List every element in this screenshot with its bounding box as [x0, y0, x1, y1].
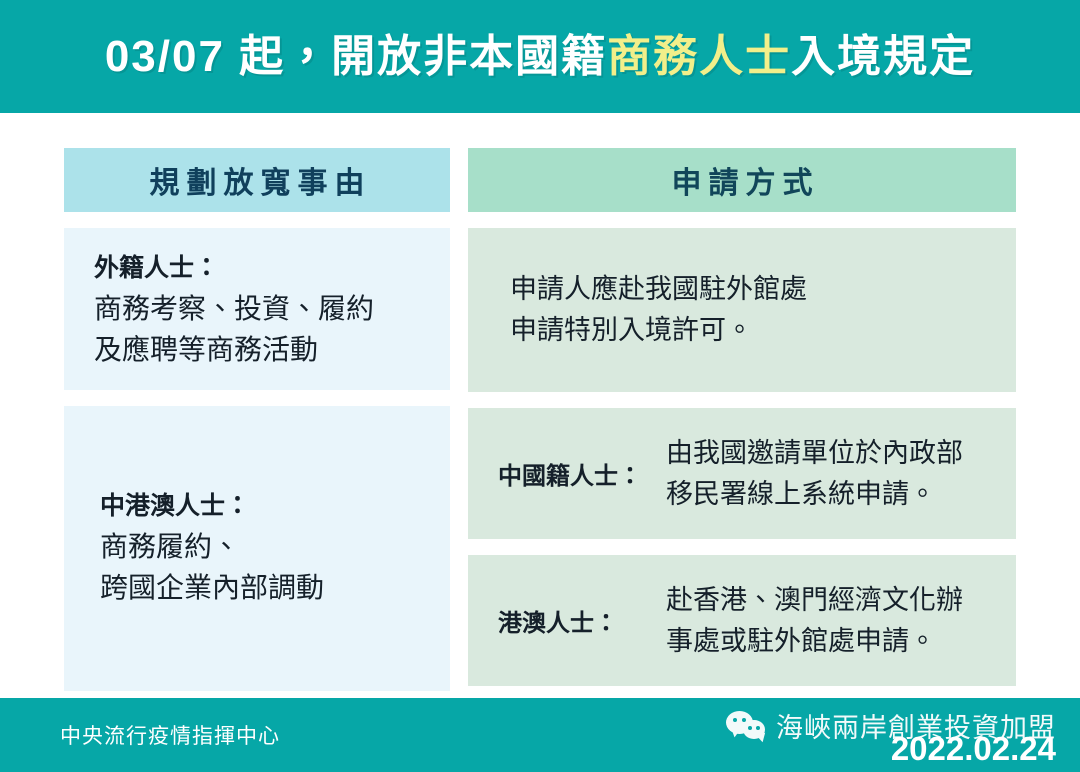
- card-foreign-nationals: 外籍人士： 商務考察、投資、履約 及應聘等商務活動: [64, 228, 450, 390]
- card-line: 事處或駐外館處申請。: [666, 621, 998, 662]
- card-line: 申請人應赴我國駐外館處: [510, 269, 986, 310]
- page-title: 03/07 起，開放非本國籍商務人士入境規定: [105, 35, 975, 79]
- wechat-icon: [726, 709, 768, 743]
- infographic-poster: 03/07 起，開放非本國籍商務人士入境規定 規劃放寬事由 外籍人士： 商務考察…: [0, 0, 1080, 772]
- card-apply-overseas-office: 申請人應赴我國駐外館處 申請特別入境許可。: [468, 228, 1016, 392]
- column-header-reasons: 規劃放寬事由: [64, 148, 450, 212]
- card-line: 跨國企業內部調動: [100, 567, 420, 608]
- footer-bar: 中央流行疫情指揮中心 海峽兩岸創業投資加盟 2022.02.24: [0, 698, 1080, 772]
- card-line: 商務考察、投資、履約: [94, 288, 420, 329]
- column-application-method: 申請方式 申請人應赴我國駐外館處 申請特別入境許可。 中國籍人士： 由我國邀請單…: [468, 148, 1016, 698]
- column-header-application-method: 申請方式: [468, 148, 1016, 212]
- card-line: 申請特別入境許可。: [510, 310, 986, 351]
- card-hk-macau-residents: 港澳人士： 赴香港、澳門經濟文化辦 事處或駐外館處申請。: [468, 555, 1016, 686]
- card-line: 移民署線上系統申請。: [666, 474, 998, 515]
- card-label-chinese-nationals: 中國籍人士：: [498, 456, 666, 491]
- content-columns: 規劃放寬事由 外籍人士： 商務考察、投資、履約 及應聘等商務活動 中港澳人士： …: [0, 113, 1080, 698]
- column-reasons: 規劃放寬事由 外籍人士： 商務考察、投資、履約 及應聘等商務活動 中港澳人士： …: [64, 148, 450, 698]
- card-line: 赴香港、澳門經濟文化辦: [666, 580, 998, 621]
- title-part-two: 入境規定: [791, 32, 975, 81]
- card-text-hk-macau-residents: 赴香港、澳門經濟文化辦 事處或駐外館處申請。: [666, 580, 998, 661]
- title-highlight: 商務人士: [607, 32, 791, 81]
- card-line: 及應聘等商務活動: [94, 329, 420, 370]
- card-text-chinese-nationals: 由我國邀請單位於內政部 移民署線上系統申請。: [666, 433, 998, 514]
- card-china-hk-macau: 中港澳人士： 商務履約、 跨國企業內部調動: [64, 406, 450, 691]
- card-chinese-nationals: 中國籍人士： 由我國邀請單位於內政部 移民署線上系統申請。: [468, 408, 1016, 539]
- footer-organization: 中央流行疫情指揮中心: [60, 720, 280, 750]
- card-label-foreign-nationals: 外籍人士：: [94, 250, 420, 288]
- card-line: 商務履約、: [100, 526, 420, 567]
- footer-date: 2022.02.24: [891, 730, 1056, 768]
- title-part-one: 03/07 起，開放非本國籍: [105, 32, 607, 81]
- header-bar: 03/07 起，開放非本國籍商務人士入境規定: [0, 0, 1080, 113]
- card-label-hk-macau-residents: 港澳人士：: [498, 603, 666, 638]
- card-label-china-hk-macau: 中港澳人士：: [100, 488, 420, 526]
- card-line: 由我國邀請單位於內政部: [666, 433, 998, 474]
